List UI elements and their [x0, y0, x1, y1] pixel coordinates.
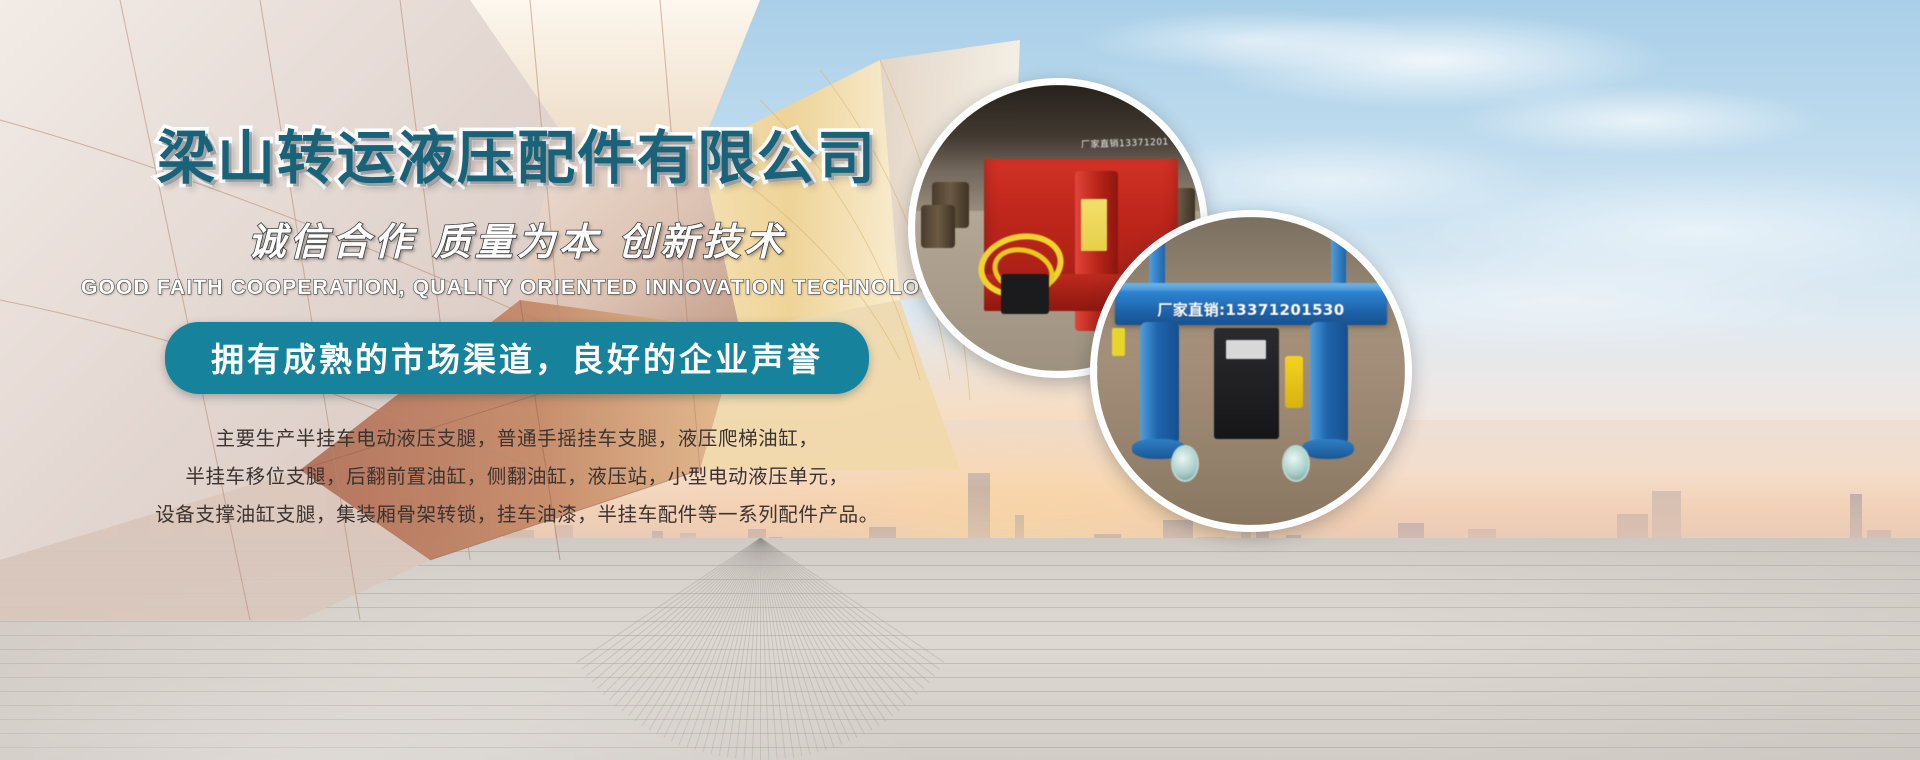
product-description: 主要生产半挂车电动液压支腿，普通手摇挂车支腿，液压爬梯油缸， 半挂车移位支腿，后…	[0, 420, 1010, 534]
description-line-3: 设备支撑油缸支腿，集装厢骨架转锁，挂车油漆，半挂车配件等一系列配件产品。	[24, 496, 1010, 534]
steel-drum-2	[921, 205, 955, 248]
blue-hydraulic-trolley-photo: 厂家直销:13371201530	[1090, 210, 1412, 532]
description-line-1: 主要生产半挂车电动液压支腿，普通手摇挂车支腿，液压爬梯油缸，	[24, 420, 1010, 458]
caster-wheel-left	[1171, 445, 1199, 482]
slogan-chinese: 诚信合作 质量为本 创新技术	[0, 211, 1010, 266]
caster-wheel-right	[1282, 445, 1310, 482]
blue-cylinder-left	[1140, 322, 1179, 445]
description-line-2: 半挂车移位支腿，后翻前置油缸，侧翻油缸，液压站，小型电动液压单元，	[24, 458, 1010, 496]
highlight-pill-wrapper: 拥有成熟的市场渠道，良好的企业声誉	[0, 322, 1010, 394]
company-title: 梁山转运液压配件有限公司	[0, 128, 1010, 189]
hydraulic-pump-unit	[1001, 274, 1050, 314]
highlight-pill: 拥有成熟的市场渠道，良好的企业声誉	[165, 322, 869, 394]
yellow-pendant-control	[1285, 356, 1303, 408]
name-plate	[1226, 340, 1266, 358]
yellow-side-tab	[1112, 328, 1124, 356]
blue-photo-scene: 厂家直销:13371201530	[1097, 217, 1405, 525]
blue-foot-pad-right	[1302, 439, 1354, 459]
hero-banner: 梁山转运液压配件有限公司 诚信合作 质量为本 创新技术 GOOD FAITH C…	[0, 0, 1920, 760]
banner-text-block: 梁山转运液压配件有限公司 诚信合作 质量为本 创新技术 GOOD FAITH C…	[0, 128, 1010, 534]
slogan-english: GOOD FAITH COOPERATION, QUALITY ORIENTED…	[0, 276, 1010, 300]
blue-cylinder-right	[1310, 322, 1349, 445]
